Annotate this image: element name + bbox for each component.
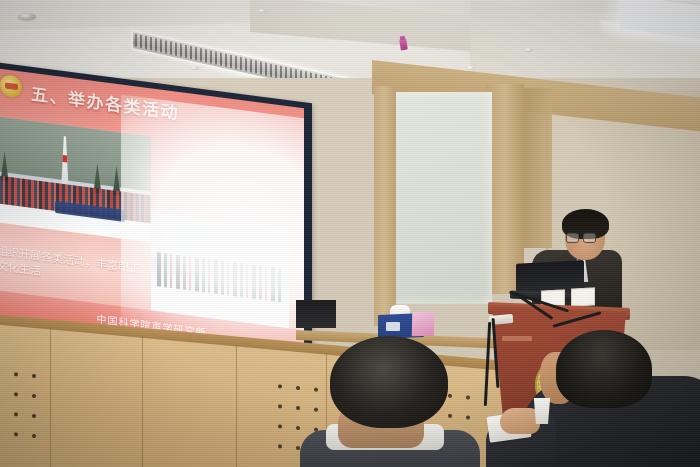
dark-monitor xyxy=(296,300,336,328)
slide-photo-winter-walk xyxy=(151,212,289,328)
audience-front-left-hair xyxy=(330,336,448,428)
smoke-detector-icon xyxy=(18,13,36,20)
hand xyxy=(500,408,540,434)
ceiling-tag-icon xyxy=(399,39,408,51)
slide-photo-monument-crowd xyxy=(0,116,151,243)
smoke-detector-icon xyxy=(258,9,267,13)
slide-body-text: 组织开展各类活动，丰富职工文化生活 xyxy=(0,244,147,293)
smoke-detector-icon xyxy=(466,66,475,70)
conference-room-photo: 五、举办各类活动 组织开展各类活动，丰富职工文化生活 中国科学院声学研究所 In… xyxy=(0,0,700,467)
podium-name-plate xyxy=(502,336,532,341)
wood-pillar xyxy=(374,86,396,326)
glasses-icon xyxy=(566,233,596,241)
slide-seal-icon xyxy=(0,74,22,99)
smoke-detector-icon xyxy=(190,66,199,70)
speaker-notes-paper xyxy=(571,287,595,306)
smoke-detector-icon xyxy=(524,48,533,52)
frosted-glass-panel xyxy=(382,92,492,304)
audience-front-right-hair xyxy=(556,330,652,408)
wood-pillar xyxy=(524,88,552,248)
tissue-box-pink-panel xyxy=(412,312,434,337)
tissue-box-label xyxy=(386,322,400,331)
